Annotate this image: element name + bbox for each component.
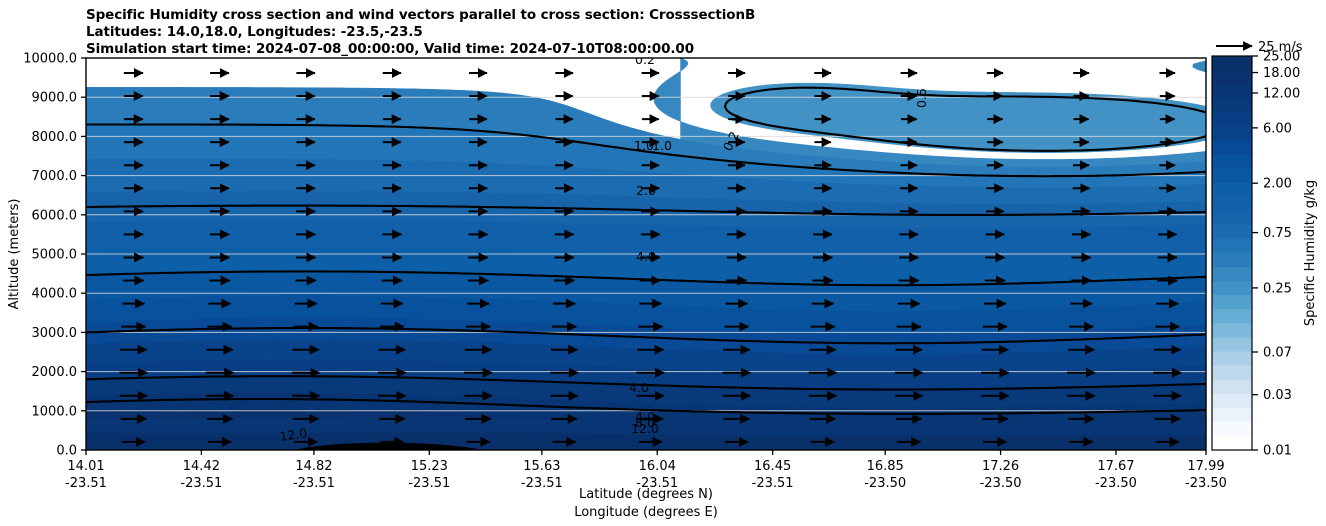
colorbar-band <box>1212 394 1252 409</box>
svg-text:0.5: 0.5 <box>914 88 929 108</box>
svg-text:4.0: 4.0 <box>629 380 649 395</box>
colorbar-band <box>1212 309 1252 324</box>
x-axis-ticks: 14.01-23.5114.42-23.5114.82-23.5115.23-2… <box>65 450 1227 491</box>
x-tick-label-latitude: 16.04 <box>639 459 676 474</box>
y-tick-label: 1000.0 <box>32 404 78 419</box>
x-tick-label-longitude: -23.50 <box>1095 476 1137 491</box>
x-tick-label-latitude: 17.67 <box>1097 459 1134 474</box>
x-tick-label-longitude: -23.51 <box>521 476 563 491</box>
x-tick-label-longitude: -23.50 <box>864 476 906 491</box>
colorbar-band <box>1212 112 1252 127</box>
colorbar-band <box>1212 352 1252 367</box>
colorbar-band <box>1212 225 1252 240</box>
colorbar-tick-label: 0.03 <box>1263 388 1292 403</box>
y-tick-label: 5000.0 <box>32 248 78 263</box>
x-axis-label-latitude: Latitude (degrees N) <box>579 487 713 502</box>
x-tick-label-longitude: -23.50 <box>1185 476 1227 491</box>
x-tick-label-latitude: 14.42 <box>183 459 220 474</box>
colorbar-tick-label: 0.75 <box>1263 226 1292 241</box>
svg-text:0.2: 0.2 <box>635 52 655 67</box>
colorbar-band <box>1212 337 1252 352</box>
x-tick-label-longitude: -23.51 <box>408 476 450 491</box>
x-tick-label-latitude: 15.23 <box>411 459 448 474</box>
colorbar-tick-label: 0.01 <box>1263 444 1292 459</box>
y-tick-label: 9000.0 <box>32 91 78 106</box>
colorbar[interactable] <box>1212 56 1252 451</box>
x-tick-label-longitude: -23.51 <box>65 476 107 491</box>
colorbar-band <box>1212 98 1252 113</box>
colorbar-band <box>1212 281 1252 296</box>
colorbar-band <box>1212 197 1252 212</box>
svg-text:1.0: 1.0 <box>652 138 672 153</box>
quiver-key-label: 25 m/s <box>1258 40 1303 55</box>
x-tick-label-latitude: 17.26 <box>982 459 1019 474</box>
y-tick-label: 3000.0 <box>32 326 78 341</box>
x-tick-label-longitude: -23.51 <box>180 476 222 491</box>
colorbar-band <box>1212 84 1252 99</box>
colorbar-band <box>1212 436 1252 451</box>
colorbar-band <box>1212 70 1252 85</box>
quiver-key: 25 m/s <box>1216 40 1303 55</box>
svg-text:2.0: 2.0 <box>636 183 656 198</box>
colorbar-band <box>1212 253 1252 268</box>
colorbar-band <box>1212 422 1252 437</box>
x-tick-label-longitude: -23.50 <box>980 476 1022 491</box>
colorbar-band <box>1212 169 1252 184</box>
colorbar-band <box>1212 140 1252 155</box>
colorbar-band <box>1212 323 1252 338</box>
y-axis-label: Altitude (meters) <box>7 199 22 310</box>
y-tick-label: 2000.0 <box>32 365 78 380</box>
colorbar-tick-label: 12.00 <box>1263 86 1300 101</box>
colorbar-tick-label: 18.00 <box>1263 66 1300 81</box>
y-tick-label: 6000.0 <box>32 208 78 223</box>
colorbar-band <box>1212 295 1252 310</box>
colorbar-tick-label: 0.07 <box>1263 346 1292 361</box>
colorbar-band <box>1212 56 1252 71</box>
x-tick-label-latitude: 14.82 <box>295 459 332 474</box>
x-tick-label-latitude: 15.63 <box>523 459 560 474</box>
colorbar-band <box>1212 380 1252 395</box>
colorbar-band <box>1212 366 1252 381</box>
colorbar-band <box>1212 408 1252 423</box>
colorbar-ticks: 25.0018.0012.006.002.000.750.250.070.030… <box>1252 50 1300 459</box>
colorbar-band <box>1212 267 1252 282</box>
x-tick-label-latitude: 16.45 <box>754 459 791 474</box>
colorbar-tick-label: 0.25 <box>1263 281 1292 296</box>
x-tick-label-latitude: 14.01 <box>67 459 104 474</box>
colorbar-band <box>1212 155 1252 170</box>
y-tick-label: 8000.0 <box>32 130 78 145</box>
svg-text:4.0: 4.0 <box>636 249 656 264</box>
colorbar-band <box>1212 183 1252 198</box>
y-tick-label: 10000.0 <box>23 52 77 67</box>
y-tick-label: 7000.0 <box>32 169 78 184</box>
colorbar-band <box>1212 211 1252 226</box>
svg-text:12.0: 12.0 <box>631 421 659 436</box>
x-axis-label-longitude: Longitude (degrees E) <box>574 505 718 520</box>
cross-section-plot: 0.20.51.01.00.22.04.04.04.08.012.012.0 0… <box>0 0 1326 526</box>
colorbar-tick-label: 6.00 <box>1263 121 1292 136</box>
colorbar-tick-label: 2.00 <box>1263 177 1292 192</box>
x-tick-label-latitude: 16.85 <box>867 459 904 474</box>
colorbar-label: Specific Humidity g/kg <box>1303 180 1318 326</box>
y-tick-label: 0.0 <box>56 444 77 459</box>
y-axis-ticks: 0.01000.02000.03000.04000.05000.06000.07… <box>23 52 86 459</box>
x-tick-label-latitude: 17.99 <box>1187 459 1224 474</box>
colorbar-band <box>1212 239 1252 254</box>
x-tick-label-longitude: -23.51 <box>752 476 794 491</box>
x-tick-label-longitude: -23.51 <box>293 476 335 491</box>
colorbar-band <box>1212 126 1252 141</box>
y-tick-label: 4000.0 <box>32 287 78 302</box>
